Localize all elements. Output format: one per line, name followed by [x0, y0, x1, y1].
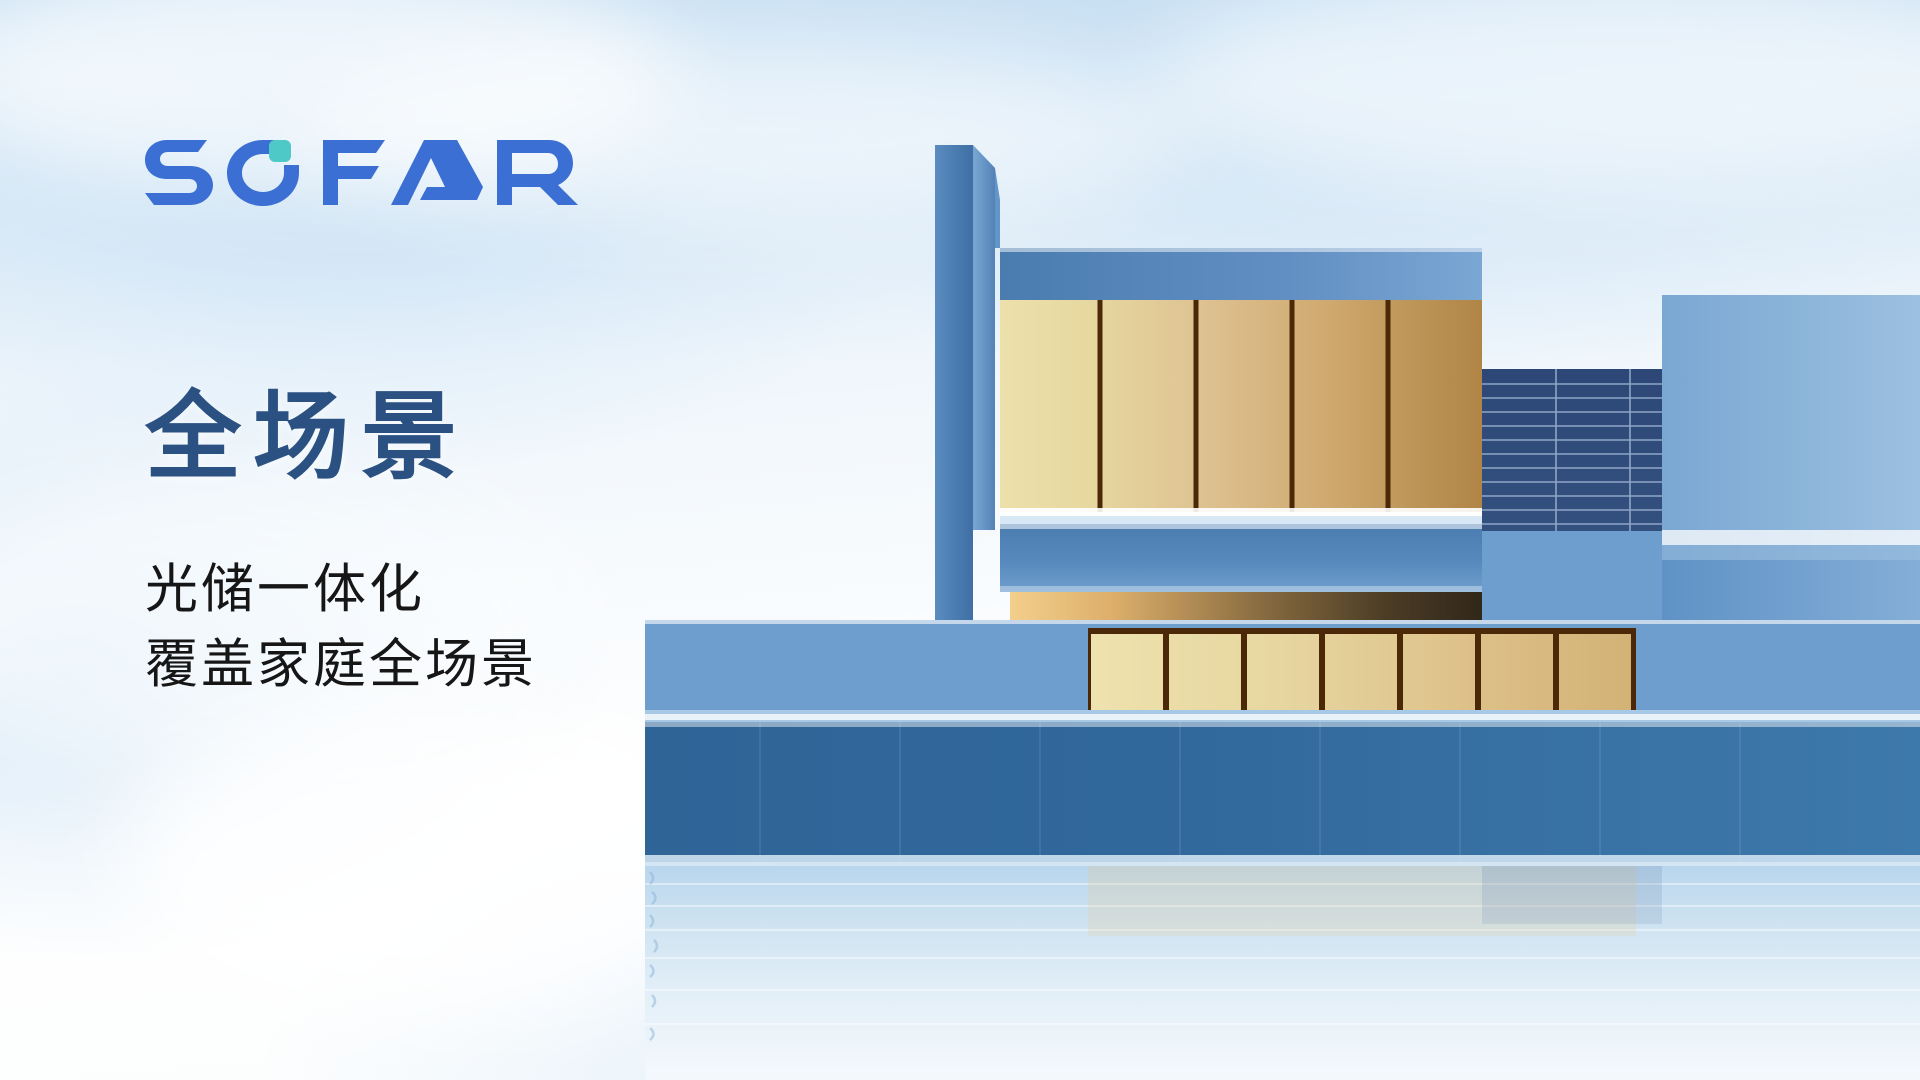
- water-reflection: [645, 866, 1920, 1080]
- left-vertical-fin: [935, 145, 1010, 660]
- text-block: SOFAR: [145, 132, 765, 212]
- solar-panel-array: [1482, 369, 1662, 531]
- banner-stage: SOFAR 全场景 光储一体化 覆盖家庭全场景: [0, 0, 1920, 1080]
- lower-main-volume: [645, 620, 1920, 722]
- base-plinth: [645, 722, 1920, 867]
- upper-floor: [1000, 248, 1482, 524]
- subtitle-line-2: 覆盖家庭全场景: [145, 638, 537, 691]
- logo-accent-square: [269, 140, 291, 162]
- sofar-logo[interactable]: SOFAR: [145, 132, 585, 212]
- subtitle-line-1: 光储一体化: [145, 563, 425, 616]
- mid-blue-band: [1000, 524, 1482, 592]
- page-title: 全场景: [145, 390, 469, 486]
- sofar-logo-mark: [145, 132, 585, 212]
